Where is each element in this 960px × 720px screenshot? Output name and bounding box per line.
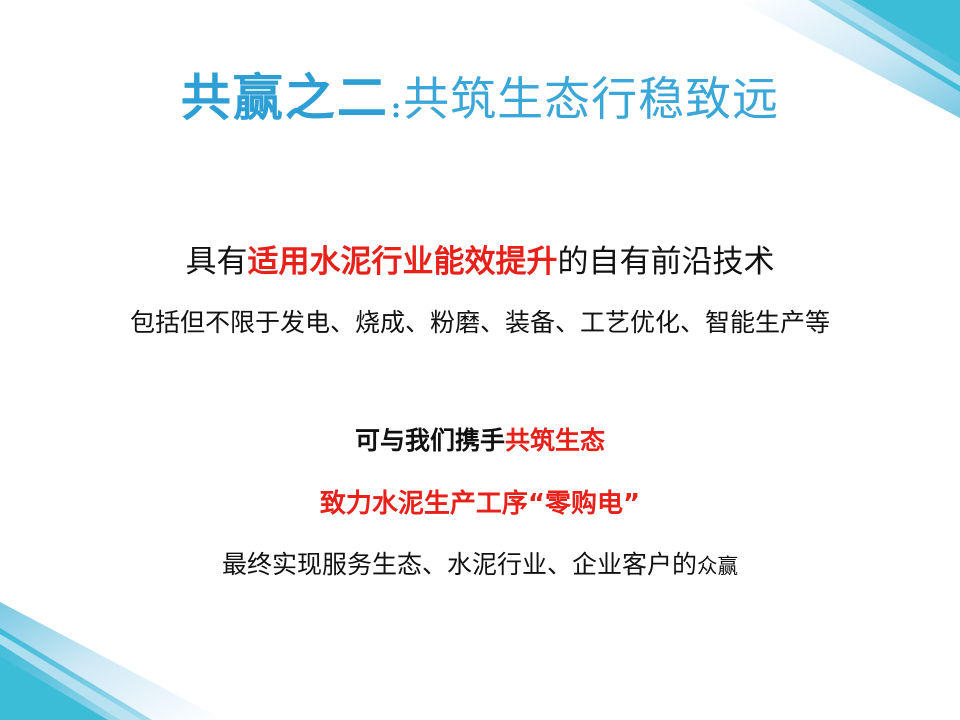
slide-title: 共赢之二:共筑生态行稳致远 (0, 58, 960, 130)
text-line-partnership: 可与我们携手共筑生态 (0, 421, 960, 457)
tech-suffix: 的自有前沿技术 (558, 244, 775, 280)
text-line-technology: 具有适用水泥行业能效提升的自有前沿技术 (0, 236, 960, 281)
tech-prefix: 具有 (186, 244, 248, 280)
partner-prefix: 可与我们携手 (355, 426, 505, 455)
decoration-bottom-left-icon (0, 590, 260, 720)
text-line-winwin: 最终实现服务生态、水泥行业、企业客户的众赢 (0, 545, 960, 581)
winwin-tail: 众赢 (697, 554, 738, 578)
tech-highlight: 适用水泥行业能效提升 (248, 244, 558, 280)
partner-highlight: 共筑生态 (505, 426, 605, 455)
text-line-zero-electricity: 致力水泥生产工序“零购电” (0, 483, 960, 520)
text-line-scope: 包括但不限于发电、烧成、粉磨、装备、工艺优化、智能生产等 (0, 303, 960, 339)
presentation-slide: 共赢之二:共筑生态行稳致远 具有适用水泥行业能效提升的自有前沿技术 包括但不限于… (0, 0, 960, 720)
winwin-prefix: 最终实现服务生态、水泥行业、企业客户的 (222, 550, 697, 579)
title-main-text: 共赢之二 (181, 68, 389, 127)
title-subtitle-text: 共筑生态行稳致远 (403, 72, 779, 126)
title-separator: : (389, 91, 403, 124)
